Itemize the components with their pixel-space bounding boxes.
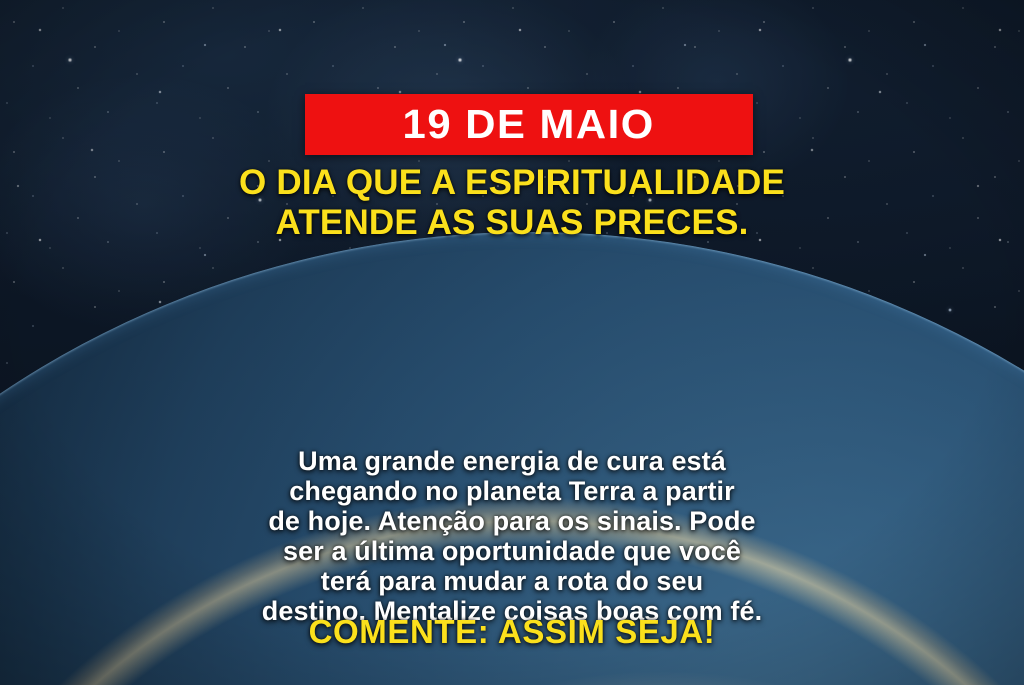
headline: O DIA QUE A ESPIRITUALIDADE ATENDE AS SU… bbox=[0, 163, 1024, 243]
poster-canvas: 19 DE MAIO O DIA QUE A ESPIRITUALIDADE A… bbox=[0, 0, 1024, 685]
body-line-5: terá para mudar a rota do seu bbox=[0, 566, 1024, 596]
body-copy: Uma grande energia de cura está chegando… bbox=[0, 446, 1024, 626]
poster-content: 19 DE MAIO O DIA QUE A ESPIRITUALIDADE A… bbox=[0, 0, 1024, 685]
body-line-3: de hoje. Atenção para os sinais. Pode bbox=[0, 506, 1024, 536]
call-to-action-text: COMENTE: ASSIM SEJA! bbox=[0, 613, 1024, 651]
body-line-4: ser a última oportunidade que você bbox=[0, 536, 1024, 566]
headline-line-1: O DIA QUE A ESPIRITUALIDADE bbox=[0, 163, 1024, 203]
body-line-2: chegando no planeta Terra a partir bbox=[0, 476, 1024, 506]
body-line-1: Uma grande energia de cura está bbox=[0, 446, 1024, 476]
date-banner: 19 DE MAIO bbox=[305, 94, 753, 155]
headline-line-2: ATENDE AS SUAS PRECES. bbox=[0, 203, 1024, 243]
date-banner-label: 19 DE MAIO bbox=[403, 104, 655, 145]
